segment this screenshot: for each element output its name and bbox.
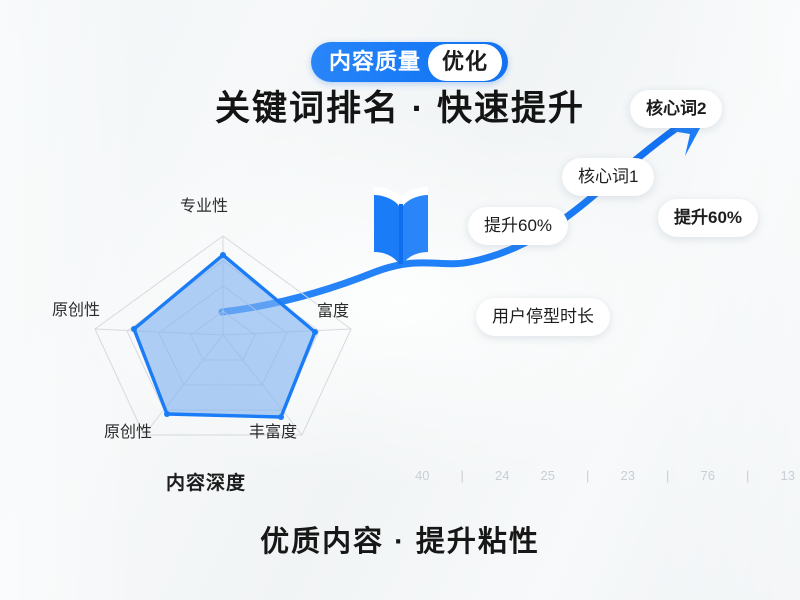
axis-tick: 13	[780, 469, 794, 482]
content-quality-badge[interactable]: 内容质量 优化	[311, 42, 508, 82]
axis-tick: |	[666, 469, 669, 482]
radar-chart	[88, 228, 358, 443]
axis-tick: |	[746, 469, 749, 482]
axis-tick: |	[586, 469, 589, 482]
axis-tick: 25	[541, 469, 555, 482]
axis-tick: 23	[621, 469, 635, 482]
content-depth-label: 内容深度	[166, 468, 246, 495]
radar-label-left: 原创性	[52, 303, 100, 319]
callout-uplift-right[interactable]: 提升60%	[658, 199, 758, 237]
bottom-page-title: 优质内容 · 提升粘性	[0, 518, 800, 560]
callout-keyword-1[interactable]: 核心词1	[562, 158, 654, 196]
radar-label-right: 富度	[317, 304, 349, 320]
radar-label-bottom-right: 丰富度	[249, 425, 297, 441]
axis-tick: 76	[700, 469, 714, 482]
radar-label-bottom-left: 原创性	[104, 425, 152, 441]
axis-tick: 40	[415, 469, 429, 482]
axis-tick-row: 40 | 24 25 | 23 | 76 | 13	[415, 465, 795, 485]
badge-main-label: 内容质量	[329, 51, 428, 73]
radar-series-area	[134, 255, 315, 417]
callout-dwell-time[interactable]: 用户停型时长	[476, 298, 610, 336]
axis-tick: |	[461, 469, 464, 482]
open-book-icon	[370, 184, 432, 268]
poster-canvas: 专业性 富度 丰富度 原创性 原创性 内容深度 内容质量 优化 关键词排名 · …	[0, 0, 800, 600]
axis-tick: 24	[495, 469, 509, 482]
radar-label-top: 专业性	[180, 199, 228, 215]
callout-keyword-2[interactable]: 核心词2	[630, 90, 722, 128]
badge-pill-label: 优化	[428, 44, 502, 81]
callout-uplift-left[interactable]: 提升60%	[468, 207, 568, 245]
